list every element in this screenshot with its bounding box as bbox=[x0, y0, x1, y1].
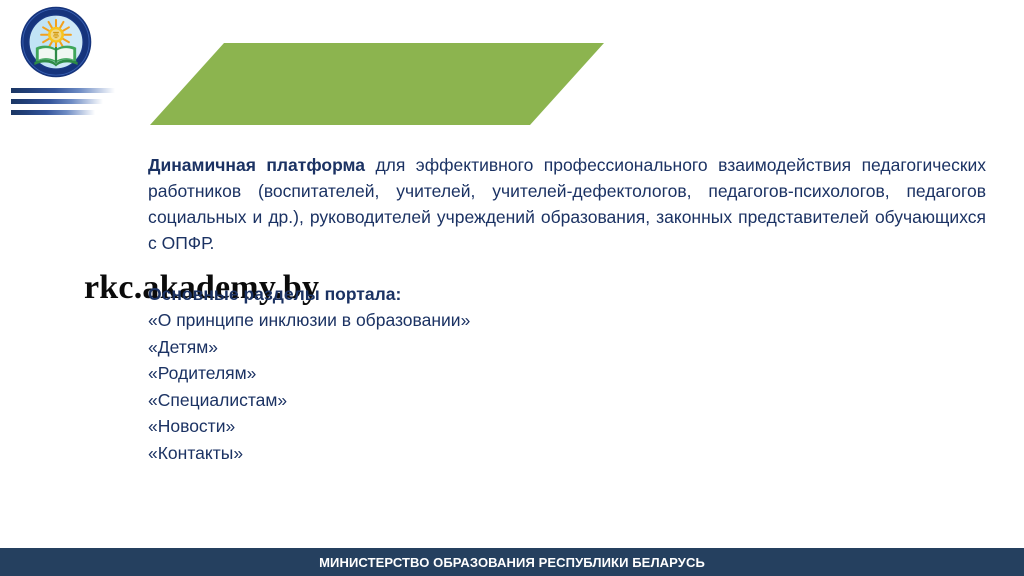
decorative-rule-stack bbox=[11, 88, 141, 121]
portal-sections-list: «О принципе инклюзии в образовании» «Дет… bbox=[148, 307, 986, 466]
intro-paragraph: Динамичная платформа для эффективного пр… bbox=[148, 152, 986, 256]
list-item[interactable]: «О принципе инклюзии в образовании» bbox=[148, 307, 986, 334]
title-banner bbox=[150, 43, 604, 125]
gradient-rule-1 bbox=[11, 88, 115, 93]
sections-heading: Основные разделы портала: bbox=[148, 281, 986, 307]
list-item[interactable]: «Родителям» bbox=[148, 360, 986, 387]
list-item[interactable]: «Детям» bbox=[148, 334, 986, 361]
list-item[interactable]: «Специалистам» bbox=[148, 387, 986, 414]
footer-text: МИНИСТЕРСТВО ОБРАЗОВАНИЯ РЕСПУБЛИКИ БЕЛА… bbox=[319, 555, 705, 570]
gradient-rule-2 bbox=[11, 99, 103, 104]
main-content: Динамичная платформа для эффективного пр… bbox=[148, 152, 986, 466]
intro-lead: Динамичная платформа bbox=[148, 155, 365, 175]
list-item[interactable]: «Новости» bbox=[148, 413, 986, 440]
gradient-rule-3 bbox=[11, 110, 95, 115]
emblem-graphic bbox=[20, 6, 92, 78]
ministry-emblem bbox=[20, 6, 92, 78]
list-item[interactable]: «Контакты» bbox=[148, 440, 986, 467]
footer-bar: МИНИСТЕРСТВО ОБРАЗОВАНИЯ РЕСПУБЛИКИ БЕЛА… bbox=[0, 548, 1024, 576]
